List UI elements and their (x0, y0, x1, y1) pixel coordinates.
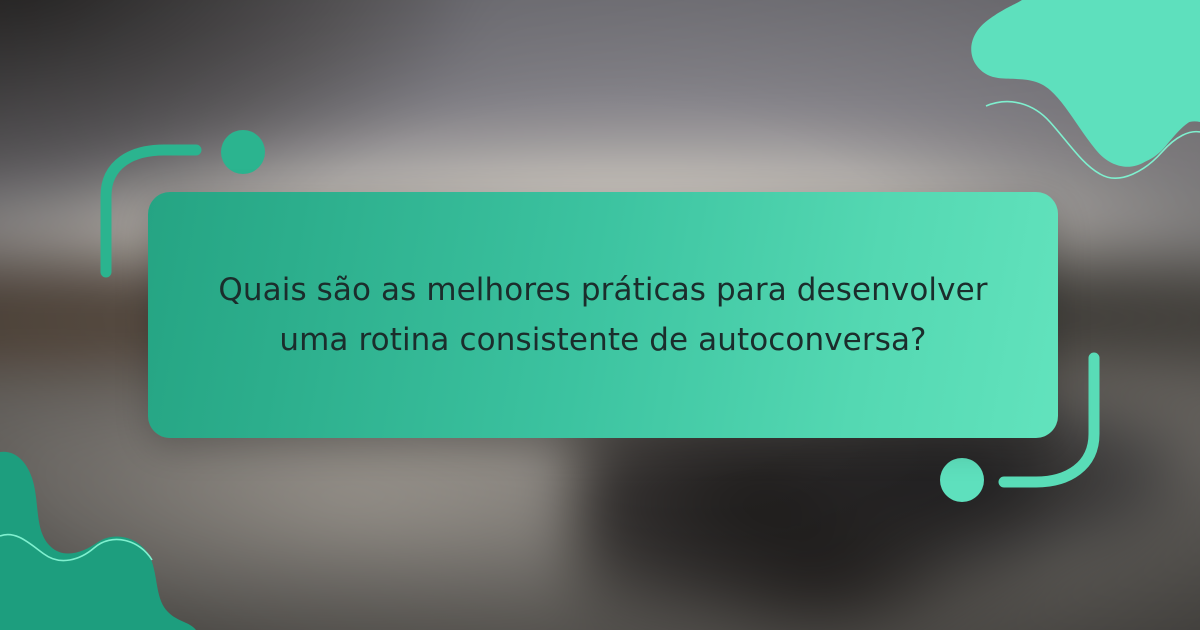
quote-card-canvas: Quais são as melhores práticas para dese… (0, 0, 1200, 630)
quote-card: Quais são as melhores práticas para dese… (148, 192, 1058, 438)
dot-top-left-icon (221, 130, 265, 174)
blob-bottom-left-icon (0, 452, 196, 630)
dot-bottom-right-icon (940, 458, 984, 502)
quote-text: Quais são as melhores práticas para dese… (203, 265, 1003, 365)
